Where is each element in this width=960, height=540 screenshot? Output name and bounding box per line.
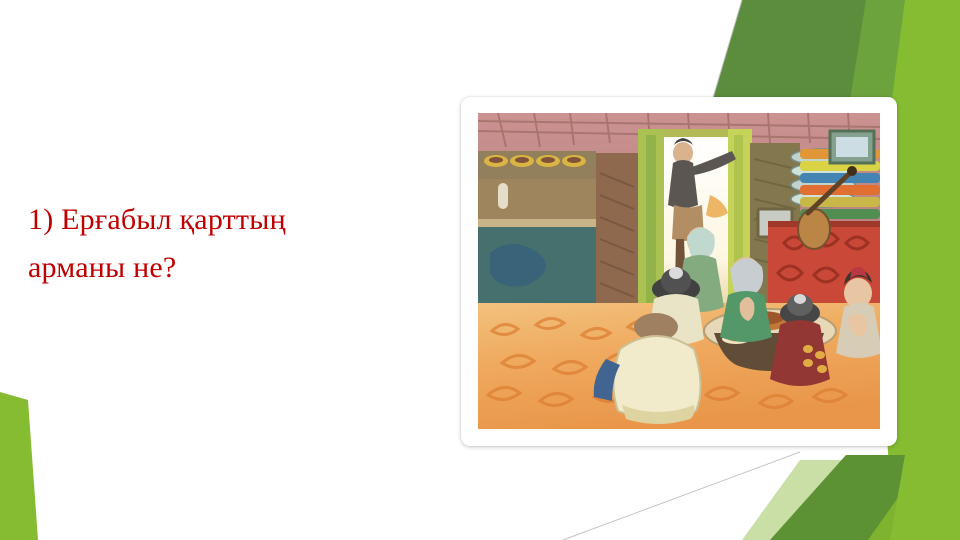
deco-shape-bottom-mid-green <box>868 455 960 540</box>
deco-shape-bottom-pale-green <box>742 460 846 540</box>
illustration-frame <box>461 97 897 446</box>
deco-hairline-bottom <box>563 452 800 540</box>
illustration-image <box>478 113 880 429</box>
presentation-slide: 1) Ерғабыл қарттың арманы не? <box>0 0 960 540</box>
deco-shape-bottom-right-light-green <box>890 440 960 540</box>
deco-shape-bottom-dark-green <box>770 455 930 540</box>
question-line-1: 1) Ерғабыл қарттың <box>28 196 428 244</box>
question-text-block: 1) Ерғабыл қарттың арманы не? <box>28 196 428 292</box>
deco-shape-bottom-left-green <box>0 392 38 540</box>
question-line-2: арманы не? <box>28 244 428 292</box>
